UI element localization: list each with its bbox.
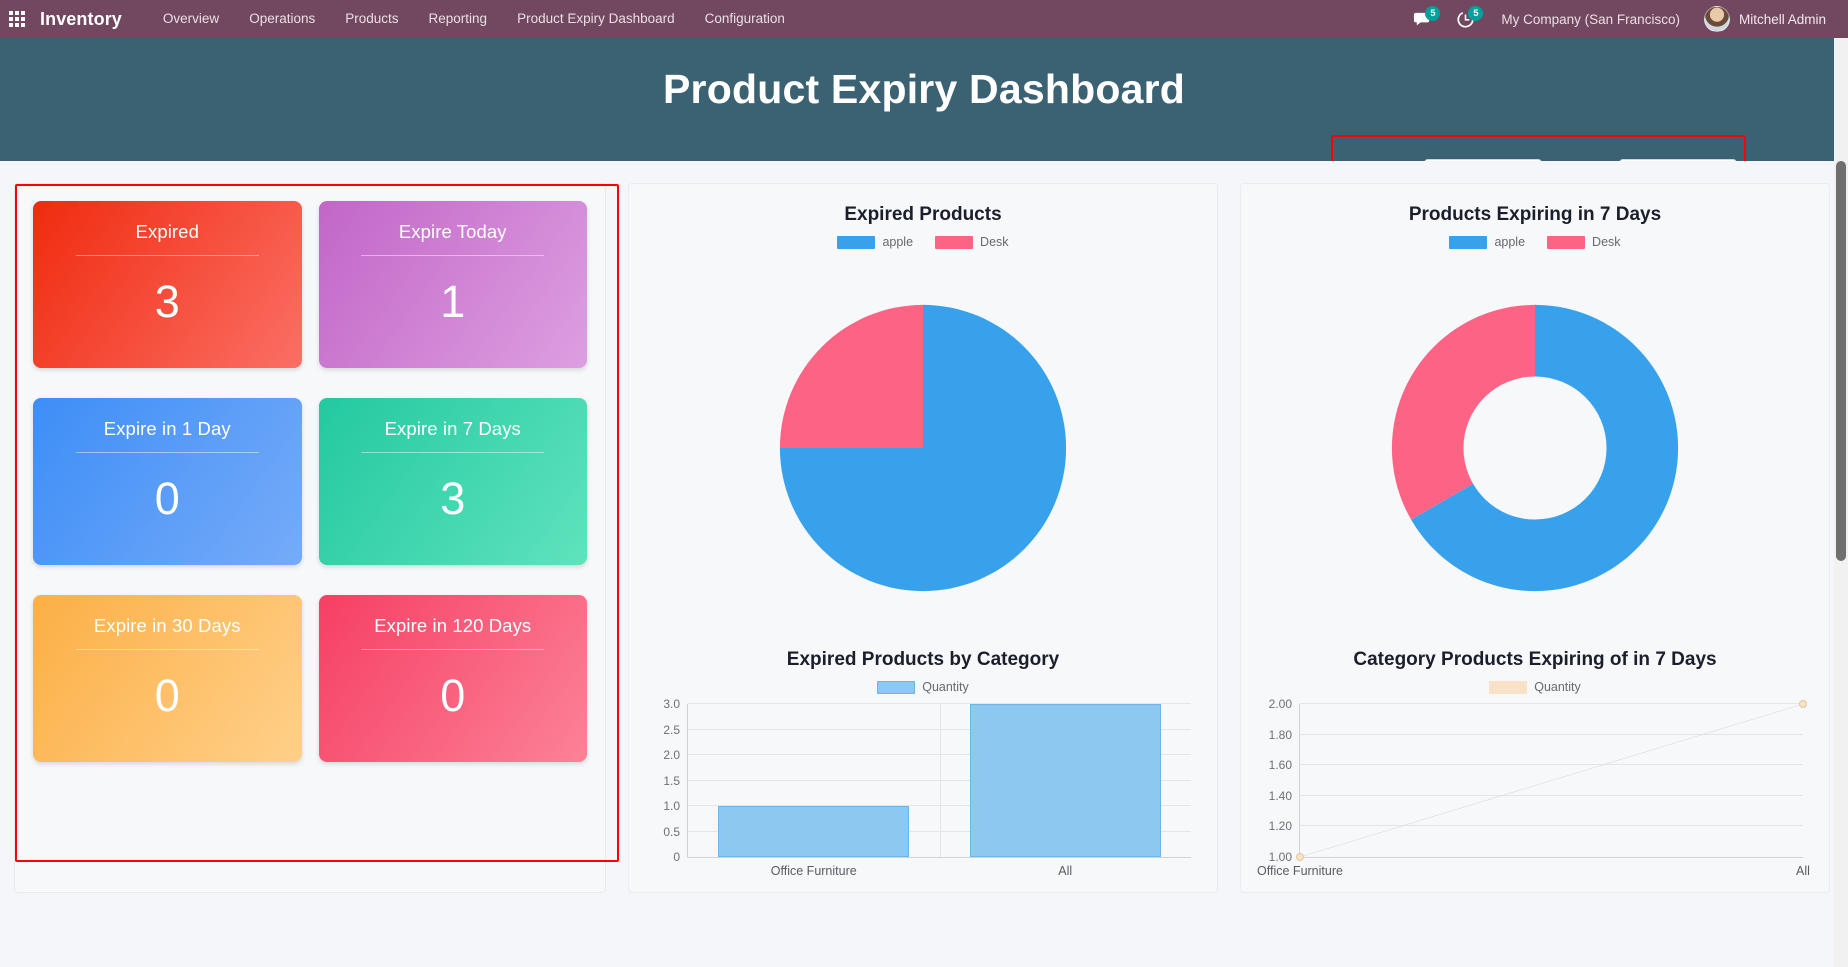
- legend-item-quantity[interactable]: Quantity: [1489, 680, 1581, 694]
- axis-separator: [940, 704, 941, 857]
- messages-badge: 5: [1425, 6, 1440, 21]
- kpi-label: Expire in 30 Days: [94, 615, 241, 649]
- legend-swatch: [1449, 236, 1487, 249]
- messages-button[interactable]: 5: [1401, 0, 1444, 38]
- chart-legend: Quantity: [641, 680, 1205, 698]
- avatar: [1704, 6, 1730, 32]
- y-axis-tick: 1.80: [1269, 728, 1292, 742]
- legend-item-desk[interactable]: Desk: [1547, 235, 1620, 249]
- data-point[interactable]: [1296, 853, 1304, 861]
- user-menu[interactable]: Mitchell Admin: [1698, 6, 1838, 32]
- nav-item-products[interactable]: Products: [330, 0, 413, 38]
- kpi-row-3: Expire in 30 Days 0 Expire in 120 Days 0: [33, 595, 587, 762]
- page-scrollbar[interactable]: [1834, 38, 1848, 967]
- y-axis-tick: 1.0: [663, 799, 680, 813]
- y-axis-tick: 0: [673, 850, 680, 864]
- bar[interactable]: [970, 704, 1161, 857]
- nav-item-overview[interactable]: Overview: [148, 0, 234, 38]
- chart-column-expiring-7-days: Products Expiring in 7 Days apple Desk: [1240, 183, 1830, 893]
- kpi-card-expire-in-120-days[interactable]: Expire in 120 Days 0: [319, 595, 588, 762]
- kpi-card-expire-in-7-days[interactable]: Expire in 7 Days 3: [319, 398, 588, 565]
- x-axis-tick: Office Furniture: [1257, 864, 1343, 878]
- nav-item-product-expiry-dashboard[interactable]: Product Expiry Dashboard: [502, 0, 690, 38]
- legend-swatch: [1547, 236, 1585, 249]
- chart-expired-products: Expired Products apple Desk: [641, 198, 1205, 643]
- pie-chart-area: [641, 253, 1205, 643]
- kpi-label: Expire in 7 Days: [385, 418, 521, 452]
- legend-swatch: [877, 681, 915, 694]
- data-point[interactable]: [1799, 700, 1807, 708]
- y-axis-tick: 2.00: [1269, 697, 1292, 711]
- nav-item-configuration[interactable]: Configuration: [690, 0, 800, 38]
- legend-label: Quantity: [922, 680, 969, 694]
- y-axis-tick: 0.5: [663, 825, 680, 839]
- chart-column-expired: Expired Products apple Desk Expired P: [628, 183, 1218, 893]
- legend-swatch: [1489, 681, 1527, 694]
- kpi-row-2: Expire in 1 Day 0 Expire in 7 Days 3: [33, 398, 587, 565]
- y-axis-tick: 2.5: [663, 723, 680, 737]
- kpi-card-expire-in-1-day[interactable]: Expire in 1 Day 0: [33, 398, 302, 565]
- chart-category-expiring-7-days: Category Products Expiring of in 7 Days …: [1253, 643, 1817, 880]
- legend-label: Desk: [980, 235, 1008, 249]
- dashboard-content: Expired 3 Expire Today 1 Expire in 1 Day…: [0, 161, 1848, 967]
- kpi-label: Expire in 1 Day: [104, 418, 231, 452]
- kpi-label: Expire Today: [399, 221, 507, 255]
- company-switcher[interactable]: My Company (San Francisco): [1487, 12, 1698, 27]
- kpi-value: 0: [155, 453, 180, 521]
- chart-title: Expired Products by Category: [641, 643, 1205, 680]
- app-brand-inventory[interactable]: Inventory: [34, 9, 148, 30]
- kpi-row-1: Expired 3 Expire Today 1: [33, 201, 587, 368]
- y-axis-tick: 1.20: [1269, 819, 1292, 833]
- bar-plot-area: 00.51.01.52.02.53.0Office FurnitureAll: [687, 704, 1191, 858]
- chart-title: Category Products Expiring of in 7 Days: [1253, 643, 1817, 680]
- line-chart[interactable]: 1.001.201.401.601.802.00Office Furniture…: [1253, 704, 1817, 880]
- legend-label: apple: [882, 235, 913, 249]
- kpi-card-expired[interactable]: Expired 3: [33, 201, 302, 368]
- legend-label: Desk: [1592, 235, 1620, 249]
- doughnut-chart-area: [1253, 253, 1817, 643]
- legend-item-apple[interactable]: apple: [837, 235, 913, 249]
- legend-item-quantity[interactable]: Quantity: [877, 680, 969, 694]
- legend-swatch: [837, 236, 875, 249]
- y-axis-tick: 1.00: [1269, 850, 1292, 864]
- chart-title: Expired Products: [641, 198, 1205, 235]
- line-series: [1300, 704, 1803, 857]
- chart-legend: apple Desk: [1253, 235, 1817, 253]
- y-axis-tick: 3.0: [663, 697, 680, 711]
- kpi-value: 1: [440, 256, 465, 324]
- dashboard-banner: Product Expiry Dashboard Start Date: dd …: [0, 38, 1848, 161]
- kpi-card-expire-today[interactable]: Expire Today 1: [319, 201, 588, 368]
- bar-chart[interactable]: 00.51.01.52.02.53.0Office FurnitureAll: [641, 704, 1205, 880]
- nav-item-reporting[interactable]: Reporting: [414, 0, 503, 38]
- x-axis-tick: All: [1058, 864, 1072, 878]
- doughnut-chart[interactable]: [1389, 302, 1681, 594]
- kpi-value: 0: [440, 650, 465, 718]
- nav-item-operations[interactable]: Operations: [234, 0, 330, 38]
- chart-legend: Quantity: [1253, 680, 1817, 698]
- legend-item-desk[interactable]: Desk: [935, 235, 1008, 249]
- legend-item-apple[interactable]: apple: [1449, 235, 1525, 249]
- chart-expired-by-category: Expired Products by Category Quantity 00…: [641, 643, 1205, 880]
- legend-swatch: [935, 236, 973, 249]
- kpi-panel: Expired 3 Expire Today 1 Expire in 1 Day…: [14, 183, 606, 893]
- kpi-value: 3: [155, 256, 180, 324]
- x-axis-tick: Office Furniture: [771, 864, 857, 878]
- apps-grid-icon[interactable]: [0, 0, 34, 38]
- pie-chart[interactable]: [777, 302, 1069, 594]
- legend-label: Quantity: [1534, 680, 1581, 694]
- chart-legend: apple Desk: [641, 235, 1205, 253]
- y-axis-tick: 1.5: [663, 774, 680, 788]
- kpi-label: Expire in 120 Days: [374, 615, 531, 649]
- scrollbar-thumb[interactable]: [1836, 161, 1846, 561]
- navbar-right-zone: 5 5 My Company (San Francisco) Mitchell …: [1401, 0, 1848, 38]
- y-axis-tick: 2.0: [663, 748, 680, 762]
- y-axis-tick: 1.60: [1269, 758, 1292, 772]
- activities-badge: 5: [1468, 6, 1483, 21]
- user-name-label: Mitchell Admin: [1739, 12, 1826, 27]
- activities-button[interactable]: 5: [1444, 0, 1487, 38]
- y-axis-tick: 1.40: [1269, 789, 1292, 803]
- page-title: Product Expiry Dashboard: [0, 38, 1848, 113]
- chart-products-expiring-7-days: Products Expiring in 7 Days apple Desk: [1253, 198, 1817, 643]
- kpi-value: 3: [440, 453, 465, 521]
- bar[interactable]: [718, 806, 909, 857]
- top-navbar: Inventory Overview Operations Products R…: [0, 0, 1848, 38]
- kpi-label: Expired: [136, 221, 199, 255]
- line-plot-area: 1.001.201.401.601.802.00Office Furniture…: [1299, 704, 1803, 858]
- kpi-card-expire-in-30-days[interactable]: Expire in 30 Days 0: [33, 595, 302, 762]
- legend-label: apple: [1494, 235, 1525, 249]
- x-axis-tick: All: [1796, 864, 1810, 878]
- chart-title: Products Expiring in 7 Days: [1253, 198, 1817, 235]
- kpi-value: 0: [155, 650, 180, 718]
